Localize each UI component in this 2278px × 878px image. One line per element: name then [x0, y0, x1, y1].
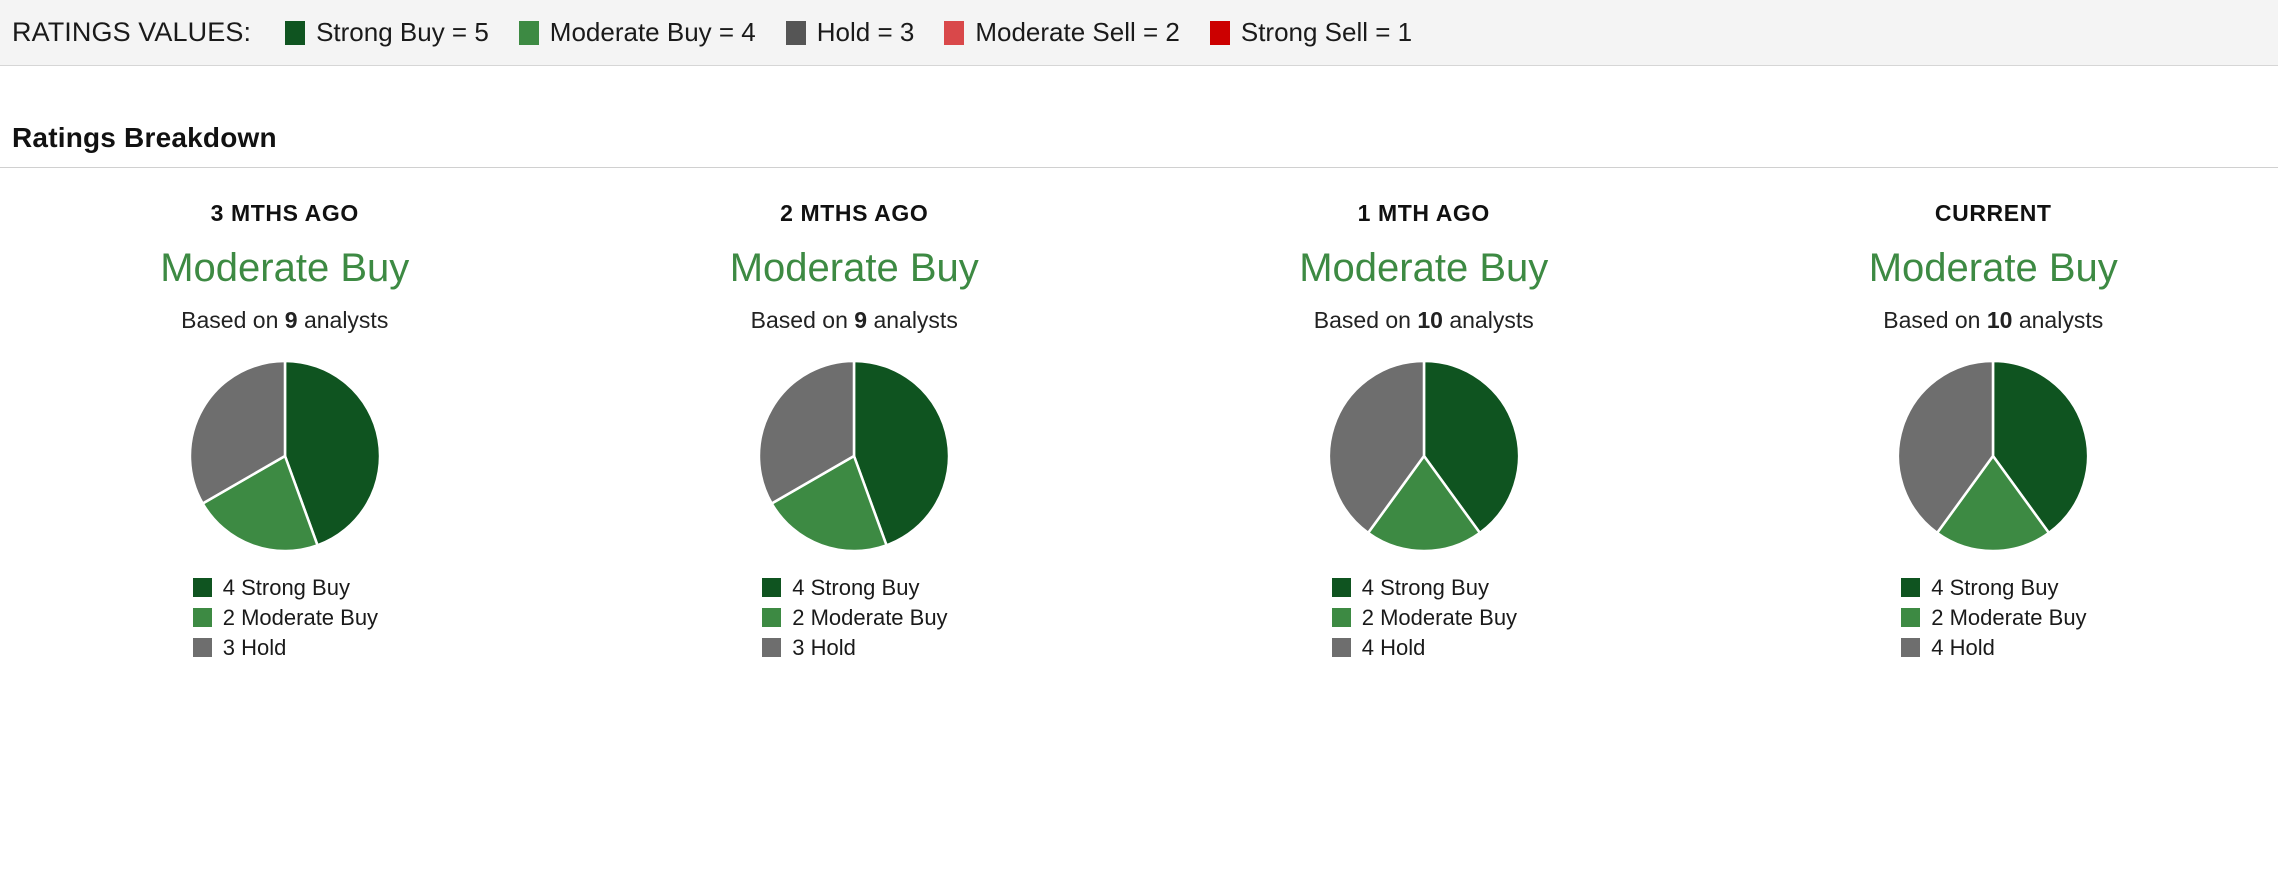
pie-legend-label: 2 Moderate Buy — [1362, 606, 1517, 629]
pie-legend-item: 3 Hold — [193, 636, 383, 659]
pie-legend-item: 2 Moderate Buy — [762, 606, 952, 629]
ratings-values-title: RATINGS VALUES: — [12, 17, 251, 48]
consensus-rating-label: Moderate Buy — [1869, 248, 2118, 288]
analyst-count-prefix: Based on — [751, 307, 855, 333]
column-period-label: 2 MTHS AGO — [780, 200, 928, 227]
column-period-label: 1 MTH AGO — [1358, 200, 1490, 227]
analyst-count-value: 9 — [854, 307, 867, 333]
pie-legend-item: 4 Strong Buy — [193, 576, 383, 599]
ratings-breakdown-column: CURRENTModerate BuyBased on 10 analysts4… — [1709, 200, 2278, 659]
pie-legend-item: 4 Strong Buy — [762, 576, 952, 599]
pie-legend-label: 4 Hold — [1362, 636, 1426, 659]
pie-legend: 4 Strong Buy2 Moderate Buy3 Hold — [187, 576, 383, 659]
pie-legend-label: 4 Strong Buy — [223, 576, 350, 599]
ratings-breakdown-column: 2 MTHS AGOModerate BuyBased on 9 analyst… — [570, 200, 1140, 659]
pie-legend-label: 4 Strong Buy — [1362, 576, 1489, 599]
pie-legend-item: 4 Hold — [1332, 636, 1522, 659]
pie-legend-item: 2 Moderate Buy — [1332, 606, 1522, 629]
pie-legend-item: 2 Moderate Buy — [193, 606, 383, 629]
ratings-breakdown-column: 1 MTH AGOModerate BuyBased on 10 analyst… — [1139, 200, 1709, 659]
ratings-value-legend-label: Strong Sell = 1 — [1241, 17, 1412, 48]
analyst-count-value: 9 — [285, 307, 298, 333]
color-swatch-icon — [1901, 638, 1920, 657]
pie-legend-item: 2 Moderate Buy — [1901, 606, 2091, 629]
color-swatch-icon — [1332, 578, 1351, 597]
pie-legend-item: 4 Hold — [1901, 636, 2091, 659]
analyst-count-prefix: Based on — [1314, 307, 1418, 333]
pie-legend-item: 4 Strong Buy — [1901, 576, 2091, 599]
ratings-breakdown-column: 3 MTHS AGOModerate BuyBased on 9 analyst… — [0, 200, 570, 659]
pie-legend-label: 2 Moderate Buy — [223, 606, 378, 629]
pie-legend-label: 4 Strong Buy — [792, 576, 919, 599]
column-period-label: CURRENT — [1935, 200, 2052, 227]
color-swatch-icon — [193, 578, 212, 597]
page-title: Ratings Breakdown — [12, 122, 277, 154]
pie-legend-label: 2 Moderate Buy — [1931, 606, 2086, 629]
ratings-value-legend-item: Moderate Sell = 2 — [944, 17, 1180, 48]
ratings-breakdown-header: Ratings Breakdown — [0, 108, 2278, 168]
ratings-value-legend-item: Moderate Buy = 4 — [519, 17, 756, 48]
pie-chart — [187, 358, 383, 554]
ratings-value-legend-item: Strong Buy = 5 — [285, 17, 489, 48]
color-swatch-icon — [762, 608, 781, 627]
color-swatch-icon — [944, 21, 964, 45]
pie-legend-item: 3 Hold — [762, 636, 952, 659]
spacer-band — [0, 66, 2278, 108]
analyst-count-suffix: analysts — [867, 307, 958, 333]
pie-chart — [756, 358, 952, 554]
analyst-count-suffix: analysts — [298, 307, 389, 333]
pie-legend-label: 3 Hold — [792, 636, 856, 659]
ratings-values-legend: Strong Buy = 5Moderate Buy = 4Hold = 3Mo… — [285, 17, 1412, 48]
color-swatch-icon — [285, 21, 305, 45]
color-swatch-icon — [193, 608, 212, 627]
pie-legend-label: 4 Hold — [1931, 636, 1995, 659]
pie-legend-label: 4 Strong Buy — [1931, 576, 2058, 599]
color-swatch-icon — [786, 21, 806, 45]
ratings-value-legend-item: Strong Sell = 1 — [1210, 17, 1412, 48]
pie-legend: 4 Strong Buy2 Moderate Buy3 Hold — [756, 576, 952, 659]
ratings-value-legend-label: Moderate Buy = 4 — [550, 17, 756, 48]
color-swatch-icon — [1901, 608, 1920, 627]
color-swatch-icon — [1332, 638, 1351, 657]
pie-legend: 4 Strong Buy2 Moderate Buy4 Hold — [1895, 576, 2091, 659]
color-swatch-icon — [1332, 608, 1351, 627]
pie-chart-container — [1326, 358, 1522, 554]
color-swatch-icon — [762, 638, 781, 657]
color-swatch-icon — [762, 578, 781, 597]
analyst-count-prefix: Based on — [181, 307, 285, 333]
ratings-value-legend-item: Hold = 3 — [786, 17, 915, 48]
pie-chart-container — [756, 358, 952, 554]
ratings-value-legend-label: Moderate Sell = 2 — [975, 17, 1180, 48]
color-swatch-icon — [1210, 21, 1230, 45]
color-swatch-icon — [1901, 578, 1920, 597]
analyst-count-text: Based on 10 analysts — [1883, 307, 2103, 334]
analyst-count-text: Based on 10 analysts — [1314, 307, 1534, 334]
analyst-count-suffix: analysts — [1443, 307, 1534, 333]
ratings-value-legend-label: Hold = 3 — [817, 17, 915, 48]
ratings-values-bar: RATINGS VALUES: Strong Buy = 5Moderate B… — [0, 0, 2278, 66]
analyst-count-text: Based on 9 analysts — [751, 307, 958, 334]
pie-chart — [1326, 358, 1522, 554]
analyst-count-value: 10 — [1417, 307, 1443, 333]
pie-legend-item: 4 Strong Buy — [1332, 576, 1522, 599]
pie-legend: 4 Strong Buy2 Moderate Buy4 Hold — [1326, 576, 1522, 659]
color-swatch-icon — [519, 21, 539, 45]
consensus-rating-label: Moderate Buy — [1299, 248, 1548, 288]
analyst-count-text: Based on 9 analysts — [181, 307, 388, 334]
pie-chart-container — [187, 358, 383, 554]
ratings-breakdown-columns: 3 MTHS AGOModerate BuyBased on 9 analyst… — [0, 168, 2278, 659]
analyst-count-value: 10 — [1987, 307, 2013, 333]
ratings-value-legend-label: Strong Buy = 5 — [316, 17, 489, 48]
analyst-count-suffix: analysts — [2012, 307, 2103, 333]
pie-legend-label: 2 Moderate Buy — [792, 606, 947, 629]
column-period-label: 3 MTHS AGO — [211, 200, 359, 227]
color-swatch-icon — [193, 638, 212, 657]
consensus-rating-label: Moderate Buy — [160, 248, 409, 288]
analyst-count-prefix: Based on — [1883, 307, 1987, 333]
pie-chart — [1895, 358, 2091, 554]
pie-legend-label: 3 Hold — [223, 636, 287, 659]
consensus-rating-label: Moderate Buy — [730, 248, 979, 288]
pie-chart-container — [1895, 358, 2091, 554]
